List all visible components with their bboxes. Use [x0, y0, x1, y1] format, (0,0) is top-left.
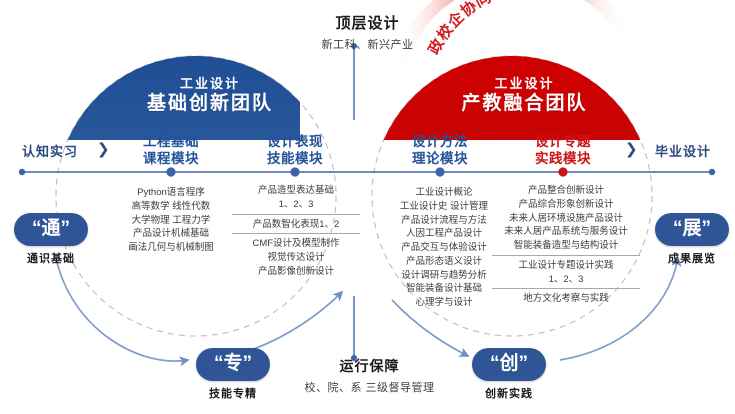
- blue-team-name: 基础创新团队: [120, 92, 300, 117]
- course-group: Python语言程序高等数学 线性代数大学物理 工程力学产品设计机械基础画法几何…: [103, 185, 239, 256]
- blue-team-label: 工业设计 基础创新团队: [120, 76, 300, 117]
- course-group: 地方文化考察与实践: [492, 291, 640, 307]
- course-group: CMF设计及模型制作视觉传达设计产品影像创新设计: [232, 236, 360, 279]
- pill-tong[interactable]: “通” 通识基础: [14, 213, 88, 266]
- course-item: 产品综合形象创新设计: [492, 198, 640, 212]
- red-team-name: 产教融合团队: [432, 92, 617, 117]
- course-item: 产品影像创新设计: [232, 265, 360, 279]
- course-item: 智能装备设计基础: [380, 282, 508, 296]
- module-4-line1: 设计专题: [508, 134, 618, 151]
- course-item: 设计调研与趋势分析: [380, 269, 508, 283]
- course-item: 画法几何与机械制图: [103, 241, 239, 255]
- course-item: Python语言程序: [103, 186, 239, 200]
- course-list-2: 产品造型表达基础1、2、3产品数智化表现1、2CMF设计及模型制作视觉传达设计产…: [232, 183, 360, 280]
- course-group: 产品整合创新设计产品综合形象创新设计未来人居环境设施产品设计未来人居产品系统与服…: [492, 183, 640, 256]
- module-1-line2: 课程模块: [116, 151, 226, 168]
- course-item: 产品交互与体验设计: [380, 241, 508, 255]
- course-group: 产品数智化表现1、2: [232, 217, 360, 235]
- pill-tong-label: 通识基础: [14, 250, 88, 266]
- course-item: 心理学与设计: [380, 296, 508, 310]
- timeline-start-label: 认知实习: [22, 141, 78, 160]
- module-3-line2: 理论模块: [385, 151, 495, 168]
- module-1-line1: 工程基础: [116, 134, 226, 151]
- course-item: 未来人居环境设施产品设计: [492, 212, 640, 226]
- red-team-label: 工业设计 产教融合团队: [432, 76, 617, 117]
- timeline-dot-2: [290, 167, 299, 176]
- pill-zhan[interactable]: “展” 成果展览: [655, 213, 729, 266]
- course-list-1: Python语言程序高等数学 线性代数大学物理 工程力学产品设计机械基础画法几何…: [103, 185, 239, 256]
- course-item: 工业设计专题设计实践: [492, 259, 640, 273]
- pill-zhan-label: 成果展览: [655, 250, 729, 266]
- module-3-line1: 设计方法: [385, 134, 495, 151]
- timeline-dot-1: [166, 167, 175, 176]
- module-4-line2: 实践模块: [508, 151, 618, 168]
- bottom-title-block: 运行保障 校、院、系 三级督导管理: [262, 356, 477, 395]
- course-item: 1、2、3: [232, 198, 360, 212]
- top-title-block: 顶层设计 新工科、新兴产业: [250, 12, 485, 52]
- course-group: 工业设计专题设计实践1、2、3: [492, 258, 640, 290]
- course-item: 视觉传达设计: [232, 251, 360, 265]
- course-item: 1、2、3: [492, 273, 640, 287]
- module-header-3: 设计方法 理论模块: [385, 134, 495, 168]
- course-group: 产品造型表达基础1、2、3: [232, 183, 360, 215]
- pill-chuang[interactable]: “创” 创新实践: [472, 348, 546, 401]
- arrow-zhuan-to-center: [245, 292, 342, 352]
- course-item: 产品造型表达基础: [232, 184, 360, 198]
- course-item: 工业设计史 设计管理: [380, 200, 508, 214]
- timeline-dot-end: [709, 169, 715, 175]
- module-2-line2: 技能模块: [240, 151, 350, 168]
- blue-team-small-label: 工业设计: [120, 76, 300, 92]
- diagram-canvas: 政校企协同平台资源 顶层设计 新工科、新兴产业 运行保障 校、院、系 三级督导管…: [0, 0, 735, 414]
- timeline-dot-start: [19, 169, 25, 175]
- timeline-end-arrow-icon: ❯: [625, 140, 638, 158]
- course-item: 大学物理 工程力学: [103, 214, 239, 228]
- timeline-start-arrow-icon: ❯: [97, 140, 110, 158]
- pill-zhuan-label: 技能专精: [196, 385, 270, 401]
- top-title: 顶层设计: [250, 12, 485, 33]
- module-header-2: 设计表现 技能模块: [240, 134, 350, 168]
- course-item: 未来人居产品系统与服务设计: [492, 225, 640, 239]
- pill-chuang-label: 创新实践: [472, 385, 546, 401]
- course-item: 产品设计流程与方法: [380, 214, 508, 228]
- course-item: 产品整合创新设计: [492, 184, 640, 198]
- course-list-4: 产品整合创新设计产品综合形象创新设计未来人居环境设施产品设计未来人居产品系统与服…: [492, 183, 640, 307]
- timeline-dot-3: [435, 167, 444, 176]
- top-subtitle: 新工科、新兴产业: [250, 36, 485, 52]
- pill-zhan-glyph: “展”: [655, 213, 729, 246]
- bottom-title: 运行保障: [262, 356, 477, 376]
- course-item: 产品数智化表现1、2: [232, 218, 360, 232]
- course-item: 高等数学 线性代数: [103, 200, 239, 214]
- pill-chuang-glyph: “创”: [472, 348, 546, 381]
- module-header-1: 工程基础 课程模块: [116, 134, 226, 168]
- arrow-tong-to-zhuan: [56, 258, 188, 361]
- red-team-small-label: 工业设计: [432, 76, 617, 92]
- course-item: 人因工程产品设计: [380, 227, 508, 241]
- pill-tong-glyph: “通”: [14, 213, 88, 246]
- module-header-4: 设计专题 实践模块: [508, 134, 618, 168]
- bottom-subtitle: 校、院、系 三级督导管理: [262, 379, 477, 395]
- course-item: CMF设计及模型制作: [232, 237, 360, 251]
- course-item: 智能装备造型与结构设计: [492, 239, 640, 253]
- pill-zhuan-glyph: “专”: [196, 348, 270, 381]
- course-item: 产品设计机械基础: [103, 227, 239, 241]
- course-item: 工业设计概论: [380, 186, 508, 200]
- timeline-dot-4: [558, 167, 567, 176]
- course-item: 地方文化考察与实践: [492, 292, 640, 306]
- timeline-end-label: 毕业设计: [655, 141, 711, 160]
- module-2-line1: 设计表现: [240, 134, 350, 151]
- course-item: 产品形态语义设计: [380, 255, 508, 269]
- course-group: 工业设计概论工业设计史 设计管理产品设计流程与方法人因工程产品设计产品交互与体验…: [380, 185, 508, 311]
- course-list-3: 工业设计概论工业设计史 设计管理产品设计流程与方法人因工程产品设计产品交互与体验…: [380, 185, 508, 311]
- pill-zhuan[interactable]: “专” 技能专精: [196, 348, 270, 401]
